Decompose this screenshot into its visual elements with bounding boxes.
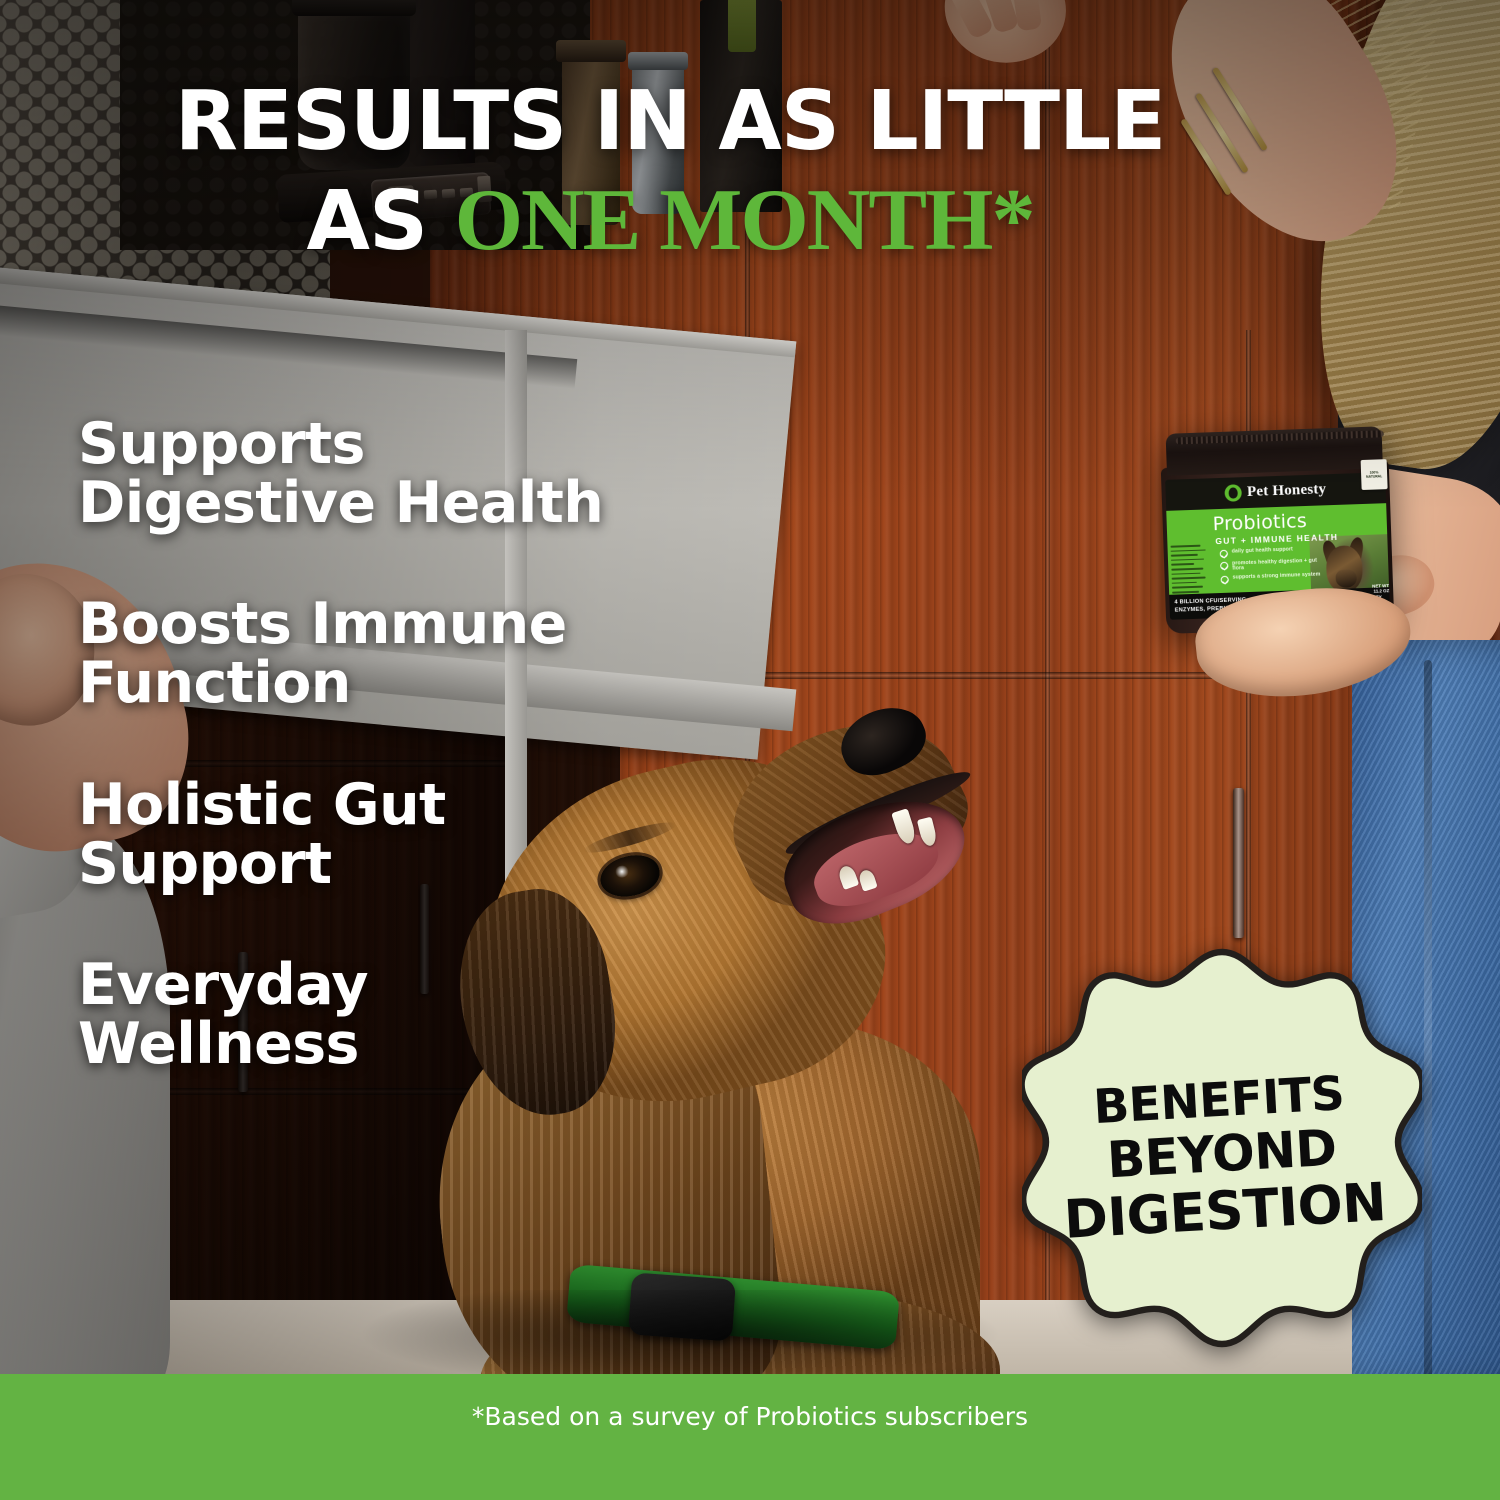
badge-text-block: BENEFITS BEYOND DIGESTION [1011, 937, 1434, 1379]
benefits-beyond-digestion-badge: BENEFITS BEYOND DIGESTION [1022, 948, 1422, 1368]
headline-highlight: ONE MONTH* [455, 172, 1034, 269]
benefit-item-immune: Boosts Immune Function [78, 595, 698, 712]
headline-line-2: AS ONE MONTH* [0, 173, 1340, 268]
badge-line-3: DIGESTION [1063, 1176, 1388, 1248]
headline: RESULTS IN AS LITTLE AS ONE MONTH* [0, 78, 1340, 268]
promo-image: Pet Honesty [0, 0, 1500, 1500]
footer-disclaimer: *Based on a survey of Probiotics subscri… [472, 1402, 1028, 1431]
benefit-item-wellness: Everyday Wellness [78, 956, 698, 1073]
benefit-item-gut: Holistic Gut Support [78, 776, 698, 893]
headline-line-2-prefix: AS [307, 174, 455, 269]
headline-line-1: RESULTS IN AS LITTLE [175, 74, 1166, 169]
benefits-list: Supports Digestive Health Boosts Immune … [78, 415, 698, 1074]
footer-bar: *Based on a survey of Probiotics subscri… [0, 1374, 1500, 1500]
benefit-item-digestive: Supports Digestive Health [78, 415, 698, 532]
